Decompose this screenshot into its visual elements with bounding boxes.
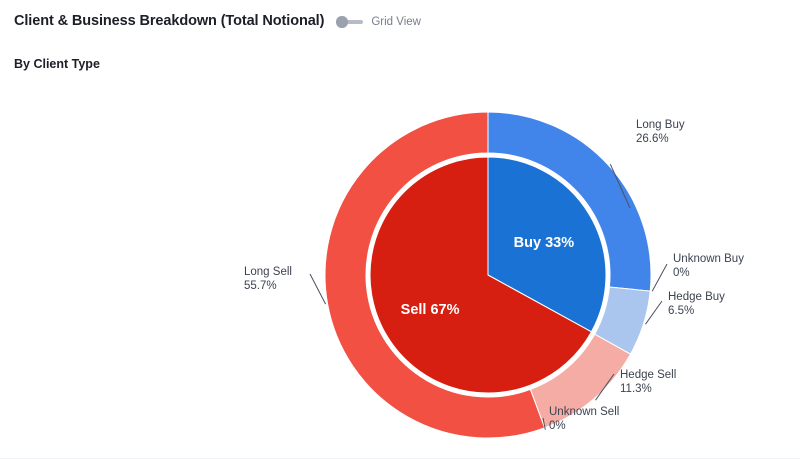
label-unknown-sell: Unknown Sell 0% [549, 405, 619, 433]
label-long-sell-value: 55.7% [244, 279, 292, 293]
label-long-sell: Long Sell 55.7% [244, 265, 292, 293]
inner-label-sell: Sell 67% [401, 302, 460, 318]
toggle-off-icon[interactable] [336, 16, 364, 27]
label-hedge-sell: Hedge Sell 11.3% [620, 368, 676, 396]
label-long-buy-name: Long Buy [636, 118, 685, 132]
donut-chart: Buy 33% Sell 67% Long Buy 26.6% Unknown … [0, 78, 800, 459]
page-title: Client & Business Breakdown (Total Notio… [14, 13, 324, 29]
chart-header: Client & Business Breakdown (Total Notio… [14, 13, 421, 29]
label-hedge-sell-name: Hedge Sell [620, 368, 676, 382]
label-long-sell-name: Long Sell [244, 265, 292, 279]
label-long-buy: Long Buy 26.6% [636, 118, 685, 146]
chart-subtitle: By Client Type [14, 57, 100, 71]
grid-view-toggle[interactable]: Grid View [336, 16, 421, 28]
label-hedge-buy-value: 6.5% [668, 304, 725, 318]
page-root: Client & Business Breakdown (Total Notio… [0, 0, 800, 459]
label-unknown-buy-name: Unknown Buy [673, 252, 744, 266]
label-unknown-buy-value: 0% [673, 266, 744, 280]
label-long-buy-value: 26.6% [636, 132, 685, 146]
label-hedge-buy-name: Hedge Buy [668, 290, 725, 304]
label-hedge-buy: Hedge Buy 6.5% [668, 290, 725, 318]
leader-line-unknown-buy [652, 264, 667, 291]
label-unknown-sell-value: 0% [549, 419, 619, 433]
inner-label-buy: Buy 33% [514, 235, 575, 251]
label-hedge-sell-value: 11.3% [620, 382, 676, 396]
label-unknown-sell-name: Unknown Sell [549, 405, 619, 419]
grid-view-toggle-label: Grid View [371, 16, 421, 28]
label-unknown-buy: Unknown Buy 0% [673, 252, 744, 280]
inner-ring-group [370, 157, 606, 393]
leader-line-long-sell [310, 274, 326, 304]
